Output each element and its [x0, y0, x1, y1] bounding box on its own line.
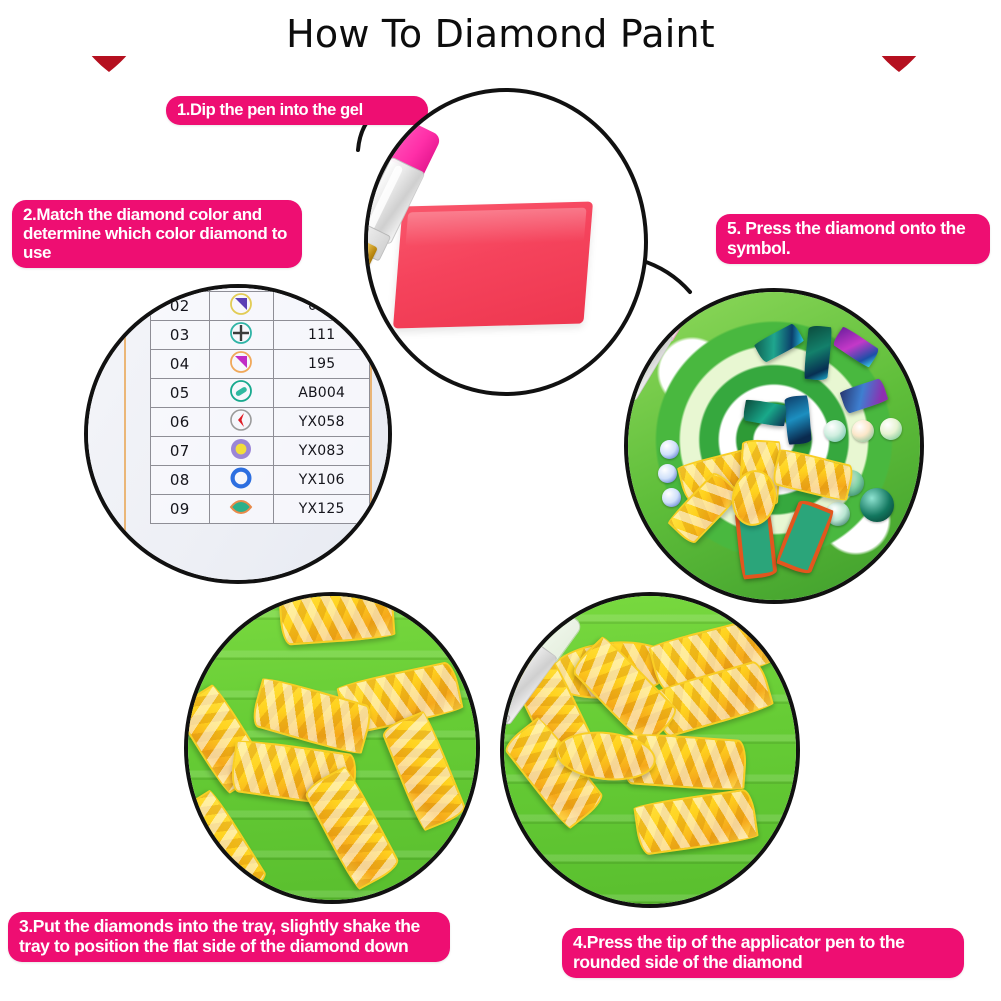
photo-color-chart: 0102802093031110419505AB00406YX05807YX08…: [84, 284, 392, 584]
gem-dot: [824, 420, 846, 442]
gel-pad: [393, 202, 593, 329]
step-2-label: 2.Match the diamond color and determine …: [12, 200, 302, 268]
arrow-left-circle-symbol: [209, 408, 274, 437]
chart-row-code: AB004: [274, 379, 370, 408]
chart-row-code: 028: [274, 284, 370, 292]
chart-row-code: 111: [274, 321, 370, 350]
triangle-circle-symbol: [209, 292, 274, 321]
chart-paper: 0102802093031110419505AB00406YX05807YX08…: [84, 284, 392, 584]
chart-row-number: 01: [151, 284, 210, 292]
header-banner: How To Diamond Paint: [0, 0, 1001, 86]
gem-yellow: [278, 592, 395, 646]
chart-row-code: 093: [274, 292, 370, 321]
gem-dot: [860, 488, 894, 522]
color-chart-row: 07YX083: [151, 437, 370, 466]
color-chart-row: 05AB004: [151, 379, 370, 408]
chart-row-number: 04: [151, 350, 210, 379]
chart-row-code: YX083: [274, 437, 370, 466]
triangle-circle-symbol: [209, 350, 274, 379]
chart-row-number: 05: [151, 379, 210, 408]
double-dot-circle-symbol: [209, 284, 274, 292]
chart-row-number: 06: [151, 408, 210, 437]
color-chart-table: 0102802093031110419505AB00406YX05807YX08…: [150, 284, 370, 524]
chart-row-number: 08: [151, 466, 210, 495]
photo-diamond-onto-symbol: [624, 288, 924, 604]
gem-dot: [852, 420, 874, 442]
step-4-label: 4.Press the tip of the applicator pen to…: [562, 928, 964, 978]
color-chart-row: 09YX125: [151, 495, 370, 524]
gem-dot: [658, 464, 677, 483]
capsule-circle-symbol: [209, 379, 274, 408]
jewel: [784, 395, 811, 445]
leaf-marquise-symbol: [209, 495, 274, 524]
color-chart-row: 06YX058: [151, 408, 370, 437]
color-chart-row: 08YX106: [151, 466, 370, 495]
chart-row-number: 09: [151, 495, 210, 524]
chart-row-number: 03: [151, 321, 210, 350]
gem-dot: [662, 488, 681, 507]
chart-row-code: 195: [274, 350, 370, 379]
ring-circle-symbol: [209, 466, 274, 495]
chart-margin-line: [370, 284, 372, 584]
page-title-text: How To Diamond Paint: [270, 12, 731, 56]
chart-row-code: YX125: [274, 495, 370, 524]
chart-row-code: YX106: [274, 466, 370, 495]
color-chart-row: 02093: [151, 292, 370, 321]
chart-row-number: 02: [151, 292, 210, 321]
dot-in-circle-symbol: [209, 437, 274, 466]
gem-dot: [880, 418, 902, 440]
page-title: How To Diamond Paint: [0, 12, 1001, 56]
color-chart-row: 03111: [151, 321, 370, 350]
step-5-label: 5. Press the diamond onto the symbol.: [716, 214, 990, 264]
photo-diamonds-in-tray: [184, 592, 480, 904]
chart-row-code: YX058: [274, 408, 370, 437]
chart-margin-line: [124, 284, 126, 584]
gem-dot: [660, 440, 679, 459]
chart-row-number: 07: [151, 437, 210, 466]
step-3-label: 3.Put the diamonds into the tray, slight…: [8, 912, 450, 962]
photo-pen-in-gel: [364, 88, 648, 396]
color-chart-row: 01028: [151, 284, 370, 292]
plus-circle-symbol: [209, 321, 274, 350]
color-chart-row: 04195: [151, 350, 370, 379]
photo-pen-picking-diamond: [500, 592, 800, 908]
